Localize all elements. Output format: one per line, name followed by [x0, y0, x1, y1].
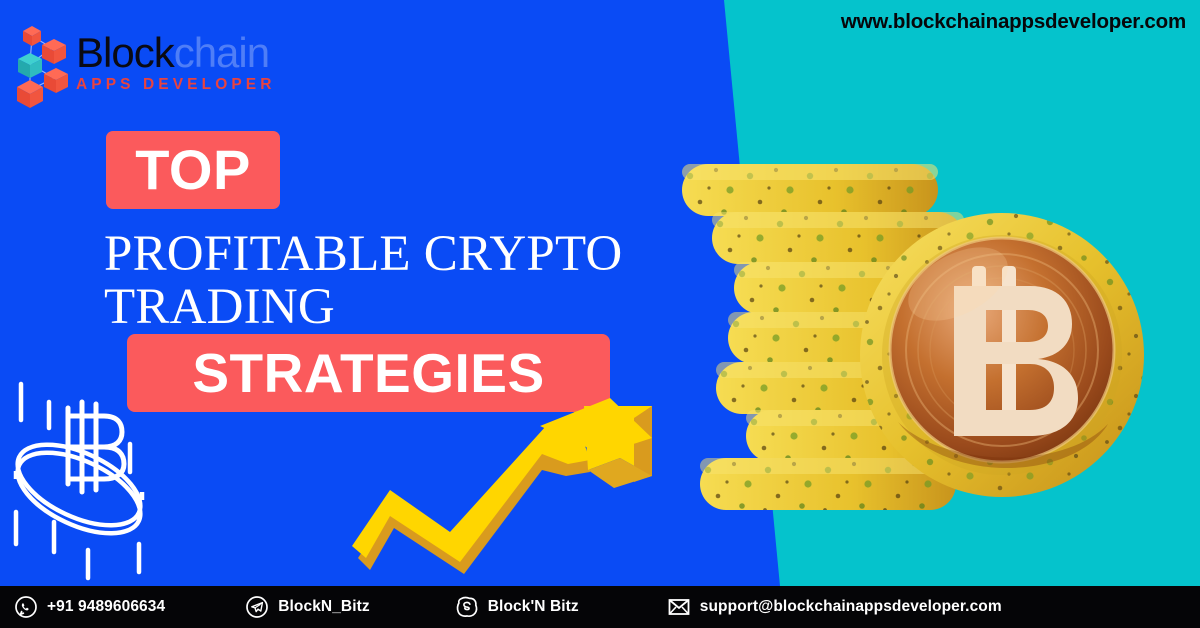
footer-contact-label: +91 9489606634	[47, 598, 165, 616]
bitcoin-portal-outline-graphic	[4, 372, 184, 582]
footer-contact-label: Block'N Bitz	[488, 598, 579, 616]
footer-contact-label: BlockN_Bitz	[278, 598, 370, 616]
footer-contact-telegram[interactable]: BlockN_Bitz	[245, 586, 370, 628]
skype-icon	[455, 595, 479, 619]
footer-contact-email[interactable]: support@blockchainappsdeveloper.com	[667, 586, 1002, 628]
logo-word-chain: chain	[174, 29, 269, 76]
cube-teal-middle	[18, 53, 42, 78]
cube-small-top	[23, 26, 41, 46]
footer-contact-label: support@blockchainappsdeveloper.com	[700, 598, 1002, 616]
headline-badge-bottom-label: STRATEGIES	[192, 346, 544, 401]
logo-wordmark: Blockchain APPS DEVELOPER	[76, 32, 276, 94]
footer-contact-whatsapp[interactable]: +91 9489606634	[14, 586, 165, 628]
logo-tagline: APPS DEVELOPER	[76, 76, 276, 94]
front-bitcoin-coin	[860, 213, 1144, 497]
headline-badge-top-label: TOP	[135, 142, 251, 198]
cube-right-upper	[42, 39, 66, 64]
whatsapp-icon	[14, 595, 38, 619]
headline-serif-line: PROFITABLE CRYPTO TRADING	[104, 228, 724, 333]
site-url[interactable]: www.blockchainappsdeveloper.com	[841, 10, 1186, 34]
logo-word-block: Block	[76, 29, 174, 76]
blockchain-cubes-logo-icon	[8, 20, 80, 112]
email-icon	[667, 595, 691, 619]
headline-badge-top: TOP	[106, 131, 280, 209]
footer-contact-skype[interactable]: Block'N Bitz	[455, 586, 579, 628]
brand-logo[interactable]: Blockchain APPS DEVELOPER	[8, 20, 288, 115]
contact-footer-bar: +91 9489606634 BlockN_Bitz Block'N Bitz	[0, 586, 1200, 628]
3d-upward-zigzag-arrow-graphic	[352, 398, 672, 578]
stacked-gold-coins-with-bitcoin-graphic	[672, 160, 1152, 550]
cube-right-lower	[44, 68, 68, 93]
cube-bottom-left	[17, 80, 43, 108]
promo-banner: Blockchain APPS DEVELOPER www.blockchain…	[0, 0, 1200, 628]
telegram-icon	[245, 595, 269, 619]
